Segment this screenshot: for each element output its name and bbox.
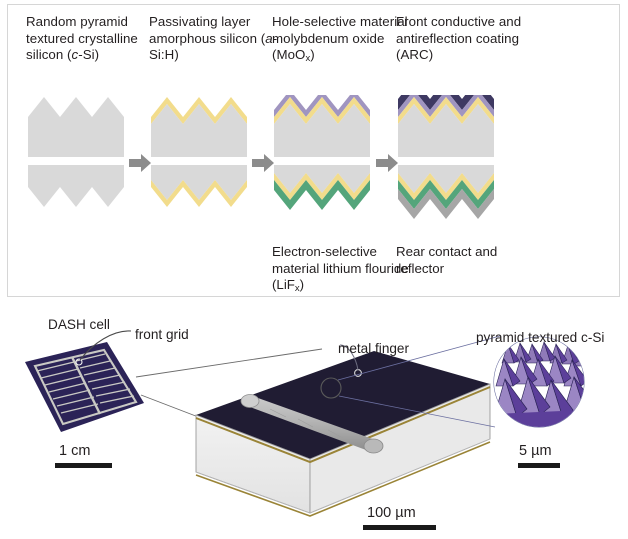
figure-root: Random pyramid textured crystalline sili… bbox=[0, 0, 628, 539]
process-step-4: Front conductive and antireflection coat… bbox=[396, 5, 546, 298]
label-pyramid-textured-csi: pyramid textured c-Si bbox=[476, 330, 604, 345]
scalebar-label-1cm: 1 cm bbox=[59, 443, 90, 459]
scalebar-1cm bbox=[55, 463, 112, 468]
process-flow-panel: Random pyramid textured crystalline sili… bbox=[7, 4, 620, 297]
scalebar-label-5um: 5 µm bbox=[519, 443, 552, 459]
scalebar-5um bbox=[518, 463, 560, 468]
label-metal-finger: metal finger bbox=[338, 341, 409, 356]
scalebar-label-100um: 100 µm bbox=[367, 505, 416, 521]
label-dash-cell: DASH cell bbox=[48, 317, 110, 332]
label-front-grid: front grid bbox=[135, 327, 189, 342]
pyramid-texture-inset bbox=[494, 337, 596, 430]
scalebar-100um bbox=[363, 525, 436, 530]
process-step-4-stack bbox=[396, 95, 546, 220]
dash-cell-photo bbox=[25, 342, 144, 432]
process-step-4-caption: Front conductive and antireflection coat… bbox=[396, 14, 548, 64]
device-block-3d bbox=[196, 351, 490, 516]
process-step-4-bottom-caption: Rear contact and reflector bbox=[396, 244, 548, 277]
